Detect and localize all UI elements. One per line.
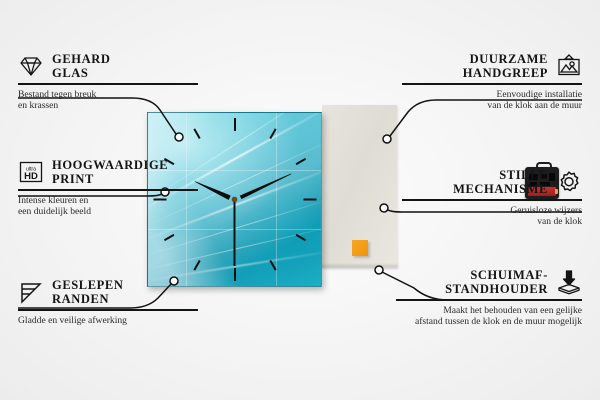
ultra-hd-icon: ultra HD [18,159,44,185]
gear-icon [556,169,582,195]
feature-rule [396,299,582,301]
feature-rule [402,83,582,85]
foam-spacer [352,240,368,256]
svg-text:HD: HD [24,171,38,182]
second-hand [234,200,236,266]
diamond-icon [18,53,44,79]
feature-schuimafstandhouder: SCHUIMAF- STANDHOUDER Maakt het behouden… [396,268,582,328]
feature-description: Bestand tegen breuk en krassen [18,89,198,112]
feature-duurzame-handgreep: DUURZAME HANDGREEP Eenvoudige installati… [402,52,582,112]
feature-description: Geruisloze wijzers van de klok [402,205,582,228]
feature-geslepen-randen: GESLEPEN RANDEN Gladde en veilige afwerk… [18,278,198,326]
feature-description: Intense kleuren en een duidelijk beeld [18,195,198,218]
feature-stille-mechanisme: STILLE MECHANISME Geruisloze wijzers van… [402,168,582,228]
feature-gehard-glas: GEHARD GLAS Bestand tegen breuk en krass… [18,52,198,112]
feature-title-line2: GLAS [52,66,88,80]
feature-rule [18,83,198,85]
infographic-canvas: GEHARD GLAS Bestand tegen breuk en krass… [0,0,600,400]
panel-shadow [320,265,398,270]
feature-hoogwaardige-print: ultra HD HOOGWAARDIGE PRINT Intense kleu… [18,158,198,218]
feature-rule [402,199,582,201]
feature-title-line1: GEHARD [52,52,110,66]
clock-pivot [232,197,237,202]
hour-hand [194,179,236,202]
feature-rule [18,189,198,191]
press-pad-icon [556,269,582,295]
feature-rule [18,309,198,311]
feature-description: Gladde en veilige afwerking [18,315,198,327]
feature-description: Maakt het behouden van een gelijke afsta… [396,305,582,328]
diagonal-lines-icon [18,279,44,305]
feature-description: Eenvoudige installatie van de klok aan d… [402,89,582,112]
framed-picture-icon [556,53,582,79]
